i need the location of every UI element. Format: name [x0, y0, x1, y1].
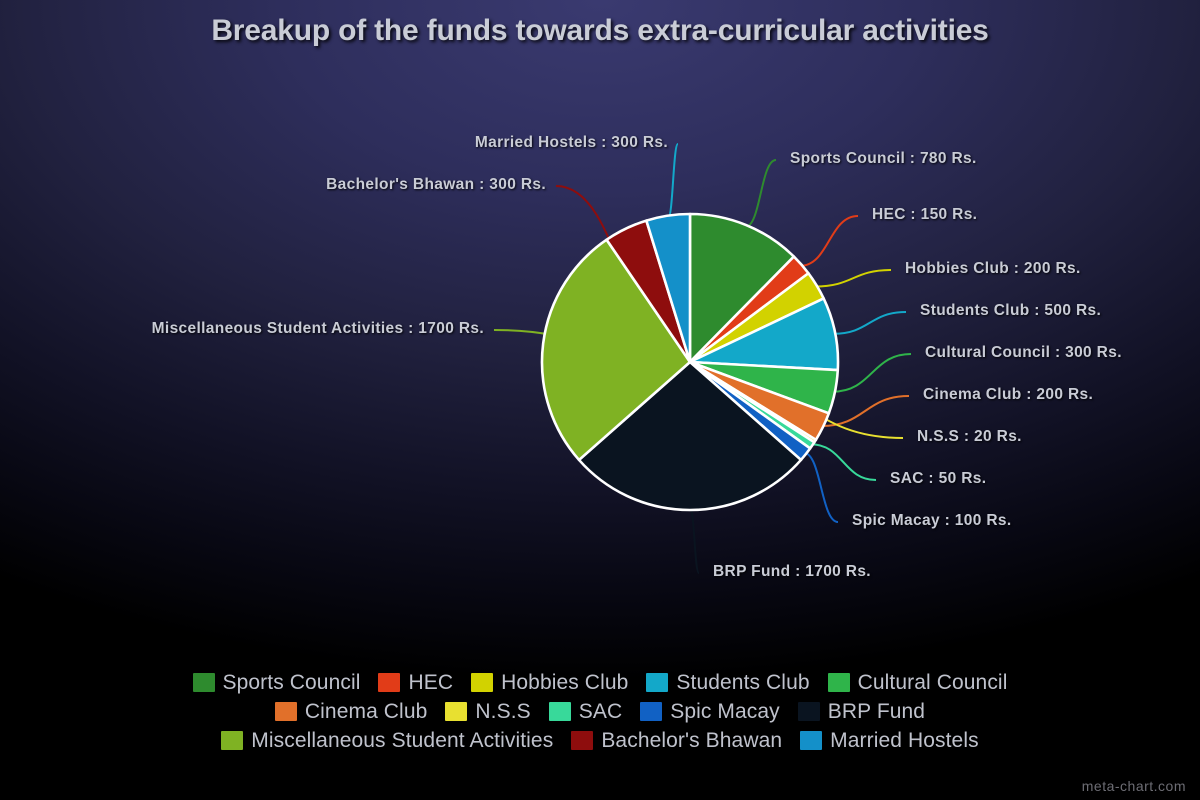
legend-swatch-cultural-council [828, 673, 850, 692]
leader-line-sac [811, 444, 876, 480]
callout-label-cinema-club: Cinema Club : 200 Rs. [923, 386, 1093, 404]
legend-label-miscellaneous-student-activities: Miscellaneous Student Activities [251, 729, 553, 753]
legend-swatch-married-hostels [800, 731, 822, 750]
legend-item-brp-fund[interactable]: BRP Fund [798, 700, 925, 724]
legend-label-sports-council: Sports Council [223, 671, 361, 695]
legend-label-brp-fund: BRP Fund [828, 700, 925, 724]
legend: Sports CouncilHECHobbies ClubStudents Cl… [0, 668, 1200, 755]
legend-label-cinema-club: Cinema Club [305, 700, 428, 724]
callout-label-sac: SAC : 50 Rs. [890, 470, 986, 488]
legend-swatch-miscellaneous-student-activities [221, 731, 243, 750]
legend-row-3: Miscellaneous Student ActivitiesBachelor… [0, 726, 1200, 755]
legend-label-cultural-council: Cultural Council [858, 671, 1008, 695]
legend-row-1: Sports CouncilHECHobbies ClubStudents Cl… [0, 668, 1200, 697]
legend-label-bachelor-s-bhawan: Bachelor's Bhawan [601, 729, 782, 753]
legend-swatch-n-s-s [445, 702, 467, 721]
legend-swatch-hec [378, 673, 400, 692]
legend-label-hobbies-club: Hobbies Club [501, 671, 628, 695]
callout-label-married-hostels: Married Hostels : 300 Rs. [0, 134, 668, 152]
legend-label-students-club: Students Club [676, 671, 809, 695]
chart-canvas: Breakup of the funds towards extra-curri… [0, 0, 1200, 800]
legend-item-cinema-club[interactable]: Cinema Club [275, 700, 428, 724]
leader-line-brp-fund [690, 508, 699, 573]
callout-label-misc-student-activities: Miscellaneous Student Activities : 1700 … [0, 320, 484, 338]
legend-swatch-sac [549, 702, 571, 721]
legend-item-students-club[interactable]: Students Club [646, 671, 809, 695]
leader-line-spic-macay [804, 453, 838, 522]
callout-label-hobbies-club: Hobbies Club : 200 Rs. [905, 260, 1081, 278]
footer-credit: meta-chart.com [1082, 778, 1186, 794]
pie-slices-group: Sports Council : 780 Rs.HEC : 150 Rs.Hob… [542, 214, 838, 510]
legend-label-spic-macay: Spic Macay [670, 700, 780, 724]
legend-item-bachelor-s-bhawan[interactable]: Bachelor's Bhawan [571, 729, 782, 753]
legend-swatch-brp-fund [798, 702, 820, 721]
legend-swatch-cinema-club [275, 702, 297, 721]
legend-label-hec: HEC [408, 671, 453, 695]
legend-swatch-bachelor-s-bhawan [571, 731, 593, 750]
legend-label-n-s-s: N.S.S [475, 700, 530, 724]
legend-swatch-sports-council [193, 673, 215, 692]
legend-item-sac[interactable]: SAC [549, 700, 622, 724]
callout-label-sports-council: Sports Council : 780 Rs. [790, 150, 977, 168]
leader-line-hec [800, 216, 858, 266]
legend-item-sports-council[interactable]: Sports Council [193, 671, 361, 695]
legend-swatch-students-club [646, 673, 668, 692]
legend-swatch-spic-macay [640, 702, 662, 721]
legend-item-married-hostels[interactable]: Married Hostels [800, 729, 979, 753]
callout-label-cultural-council: Cultural Council : 300 Rs. [925, 344, 1122, 362]
leader-line-cultural-council [833, 354, 911, 392]
legend-item-n-s-s[interactable]: N.S.S [445, 700, 530, 724]
legend-row-2: Cinema ClubN.S.SSACSpic MacayBRP Fund [0, 697, 1200, 726]
callout-label-students-club: Students Club : 500 Rs. [920, 302, 1101, 320]
legend-item-spic-macay[interactable]: Spic Macay [640, 700, 780, 724]
legend-item-cultural-council[interactable]: Cultural Council [828, 671, 1008, 695]
callout-label-nss: N.S.S : 20 Rs. [917, 428, 1022, 446]
leader-line-hobbies-club [815, 270, 891, 287]
legend-label-married-hostels: Married Hostels [830, 729, 979, 753]
leader-line-married-hostels [668, 144, 678, 218]
callout-label-brp-fund: BRP Fund : 1700 Rs. [713, 563, 871, 581]
legend-item-miscellaneous-student-activities[interactable]: Miscellaneous Student Activities [221, 729, 553, 753]
leader-line-sports-council [745, 160, 776, 227]
legend-item-hobbies-club[interactable]: Hobbies Club [471, 671, 628, 695]
callout-label-spic-macay: Spic Macay : 100 Rs. [852, 512, 1012, 530]
leader-line-cinema-club [821, 396, 909, 426]
legend-swatch-hobbies-club [471, 673, 493, 692]
legend-label-sac: SAC [579, 700, 622, 724]
legend-item-hec[interactable]: HEC [378, 671, 453, 695]
leader-line-students-club [833, 312, 906, 334]
callout-label-bachelors-bhawan: Bachelor's Bhawan : 300 Rs. [0, 176, 546, 194]
callout-label-hec: HEC : 150 Rs. [872, 206, 977, 224]
